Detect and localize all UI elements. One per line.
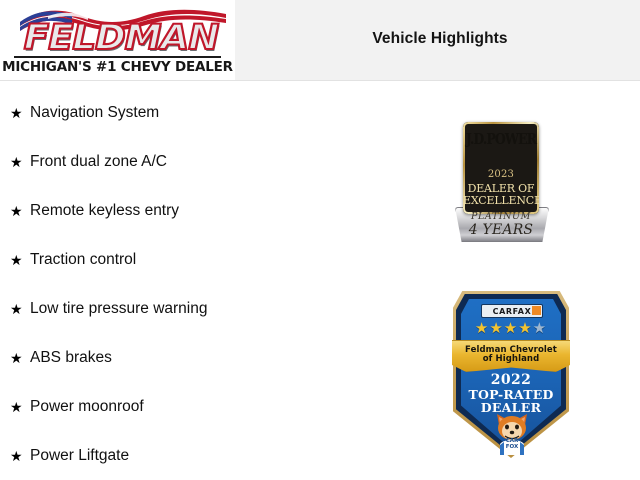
jd-power-duration: 4 YEARS (455, 222, 547, 238)
star-bullet-icon: ★ (10, 106, 30, 120)
jd-power-award-line-2: EXCELLENCE (463, 194, 539, 207)
jd-power-tier: PLATINUM (455, 211, 547, 222)
jd-power-award-badge: J.D.POWER 2023 DEALER OF EXCELLENCE PLAT… (455, 122, 547, 240)
feature-label: ABS brakes (30, 349, 112, 367)
logo-divider (14, 56, 221, 58)
page-header: FELDMAN MICHIGAN'S #1 CHEVY DEALER Vehic… (0, 0, 640, 81)
carfax-dealer-name-line-2: of Highland (453, 354, 569, 364)
carfax-award-year: 2022 (453, 372, 569, 388)
list-item: ★ Power moonroof (0, 382, 300, 431)
jd-power-plate: J.D.POWER 2023 DEALER OF EXCELLENCE (463, 122, 539, 214)
list-item: ★ Power Liftgate (0, 431, 300, 480)
feature-label: Power moonroof (30, 398, 144, 416)
jd-power-brand: J.D.POWER (463, 130, 539, 148)
carfax-mascot-shirt-text: CARFOX (491, 438, 533, 450)
carfax-stars-filled: ★★★★ (475, 320, 533, 337)
star-bullet-icon: ★ (10, 449, 30, 463)
list-item: ★ Traction control (0, 235, 300, 284)
feature-label: Traction control (30, 251, 136, 269)
vehicle-highlights-page: FELDMAN MICHIGAN'S #1 CHEVY DEALER Vehic… (0, 0, 640, 480)
star-bullet-icon: ★ (10, 253, 30, 267)
star-bullet-icon: ★ (10, 400, 30, 414)
carfax-star-last: ★ (533, 320, 547, 337)
logo-wordmark: FELDMAN (3, 20, 235, 56)
star-bullet-icon: ★ (10, 351, 30, 365)
feature-label: Power Liftgate (30, 447, 129, 465)
carfax-logo: CARFAX (481, 304, 543, 318)
list-item: ★ ABS brakes (0, 333, 300, 382)
feature-label: Navigation System (30, 104, 159, 122)
page-title: Vehicle Highlights (240, 30, 640, 48)
list-item: ★ Low tire pressure warning (0, 284, 300, 333)
feature-label: Low tire pressure warning (30, 300, 207, 318)
list-item: ★ Remote keyless entry (0, 186, 300, 235)
carfax-star-rating: ★★★★★ (453, 319, 569, 337)
jd-power-year: 2023 (463, 169, 539, 180)
feature-label: Front dual zone A/C (30, 153, 167, 171)
carfax-top-rated-dealer-badge: CARFAX ★★★★★ Feldman Chevrolet of Highla… (453, 291, 569, 458)
list-item: ★ Front dual zone A/C (0, 137, 300, 186)
star-bullet-icon: ★ (10, 155, 30, 169)
vehicle-features-list: ★ Navigation System ★ Front dual zone A/… (0, 88, 300, 480)
mascot-shirt-line-2: FOX (506, 444, 518, 450)
logo-tagline: MICHIGAN'S #1 CHEVY DEALER (0, 59, 235, 75)
dealer-logo[interactable]: FELDMAN MICHIGAN'S #1 CHEVY DEALER (0, 0, 235, 80)
star-bullet-icon: ★ (10, 204, 30, 218)
carfax-logo-orange-tab (532, 306, 541, 315)
star-bullet-icon: ★ (10, 302, 30, 316)
carfax-logo-text: CARFAX (493, 307, 532, 316)
feature-label: Remote keyless entry (30, 202, 179, 220)
list-item: ★ Navigation System (0, 88, 300, 137)
